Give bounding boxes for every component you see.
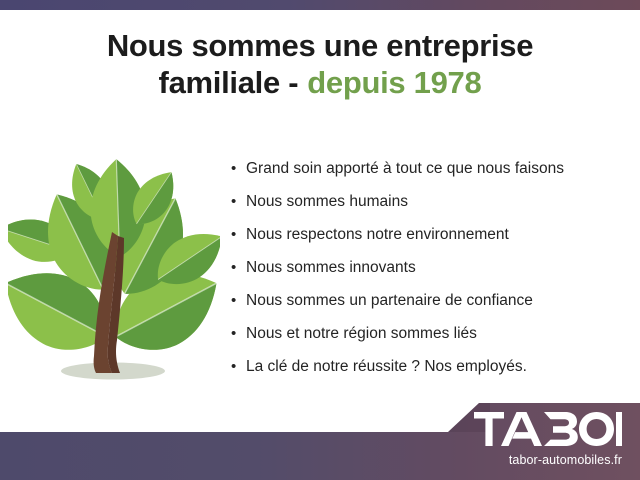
list-item-label: Nous et notre région sommes liés bbox=[246, 325, 477, 342]
list-item: • La clé de notre réussite ? Nos employé… bbox=[228, 350, 628, 383]
list-item-label: Grand soin apporté à tout ce que nous fa… bbox=[246, 160, 564, 177]
headline-line-2-green: depuis 1978 bbox=[307, 65, 481, 100]
logo-wordmark bbox=[462, 412, 622, 451]
headline-line-2: familiale -depuis 1978 bbox=[0, 64, 640, 101]
list-item: • Nous et notre région sommes liés bbox=[228, 317, 628, 350]
logo-tagline: tabor-automobiles.fr bbox=[462, 453, 622, 467]
bullet-marker-icon: • bbox=[231, 284, 236, 317]
list-item: • Grand soin apporté à tout ce que nous … bbox=[228, 152, 628, 185]
top-accent-bar bbox=[0, 0, 640, 10]
list-item-label: La clé de notre réussite ? Nos employés. bbox=[246, 358, 527, 375]
page-title: Nous sommes une entreprise familiale -de… bbox=[0, 27, 640, 101]
bullet-marker-icon: • bbox=[231, 185, 236, 218]
list-item-label: Nous sommes innovants bbox=[246, 259, 416, 276]
list-item-label: Nous respectons notre environnement bbox=[246, 226, 509, 243]
bullet-marker-icon: • bbox=[231, 218, 236, 251]
bullet-marker-icon: • bbox=[231, 317, 236, 350]
benefits-list: • Grand soin apporté à tout ce que nous … bbox=[228, 152, 628, 383]
bullet-marker-icon: • bbox=[231, 350, 236, 383]
headline-line-1: Nous sommes une entreprise bbox=[107, 28, 533, 63]
brand-logo[interactable]: tabor-automobiles.fr bbox=[462, 412, 622, 467]
tree-illustration bbox=[8, 150, 220, 390]
list-item: • Nous respectons notre environnement bbox=[228, 218, 628, 251]
list-item: • Nous sommes innovants bbox=[228, 251, 628, 284]
headline-line-2-black: familiale - bbox=[159, 65, 299, 100]
list-item-label: Nous sommes humains bbox=[246, 193, 408, 210]
list-item-label: Nous sommes un partenaire de confiance bbox=[246, 292, 533, 309]
bullet-marker-icon: • bbox=[231, 152, 236, 185]
footer: tabor-automobiles.fr bbox=[0, 398, 640, 480]
bullet-marker-icon: • bbox=[231, 251, 236, 284]
slide-canvas: Nous sommes une entreprise familiale -de… bbox=[0, 0, 640, 480]
list-item: • Nous sommes un partenaire de confiance bbox=[228, 284, 628, 317]
list-item: • Nous sommes humains bbox=[228, 185, 628, 218]
